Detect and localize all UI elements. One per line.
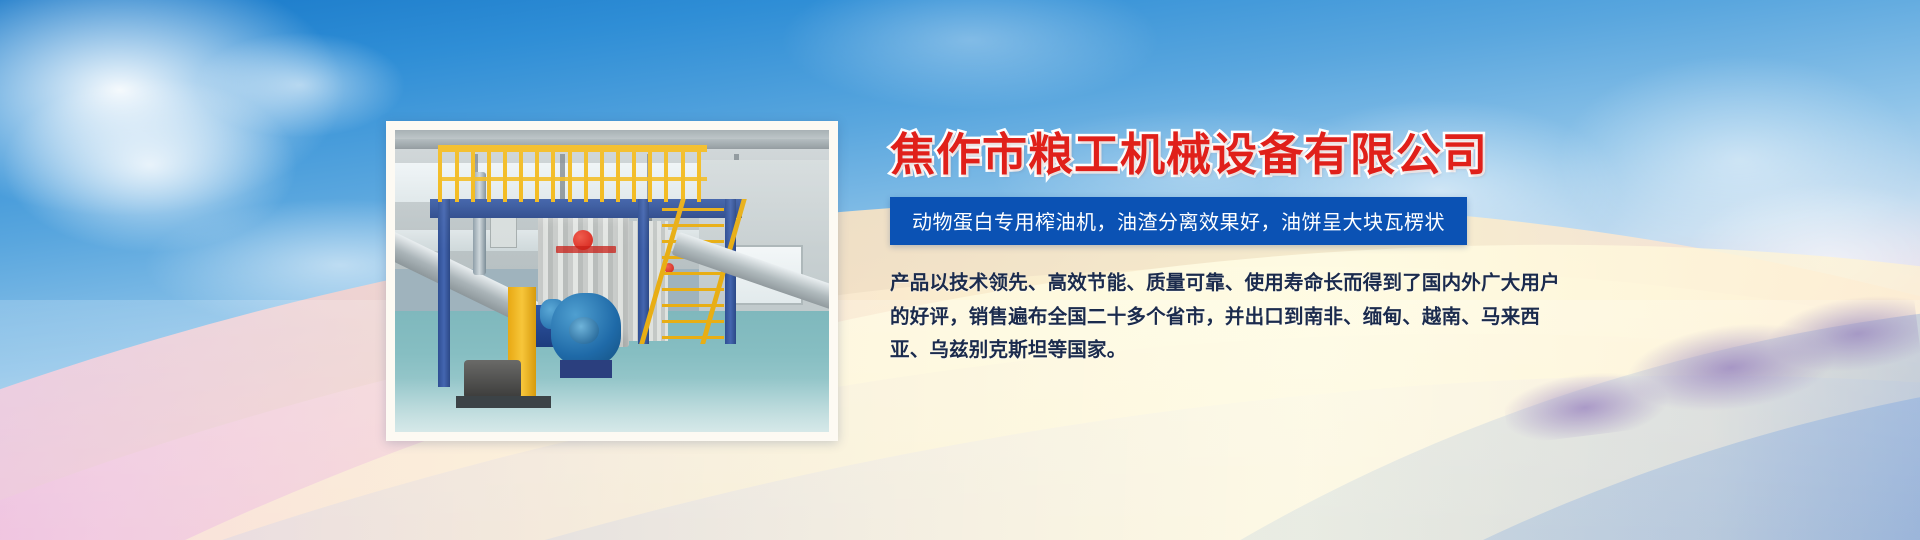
promo-banner: 焦作市粮工机械设备有限公司 动物蛋白专用榨油机，油渣分离效果好，油饼呈大块瓦楞状… <box>0 0 1920 540</box>
company-title: 焦作市粮工机械设备有限公司 <box>890 128 1590 181</box>
product-photo-frame <box>386 121 838 441</box>
banner-text-block: 焦作市粮工机械设备有限公司 动物蛋白专用榨油机，油渣分离效果好，油饼呈大块瓦楞状… <box>890 128 1590 368</box>
subtitle-bar: 动物蛋白专用榨油机，油渣分离效果好，油饼呈大块瓦楞状 <box>890 197 1467 245</box>
photo-haze <box>395 130 829 432</box>
product-photo <box>395 130 829 432</box>
company-description: 产品以技术领先、高效节能、质量可靠、使用寿命长而得到了国内外广大用户的好评，销售… <box>890 267 1562 368</box>
